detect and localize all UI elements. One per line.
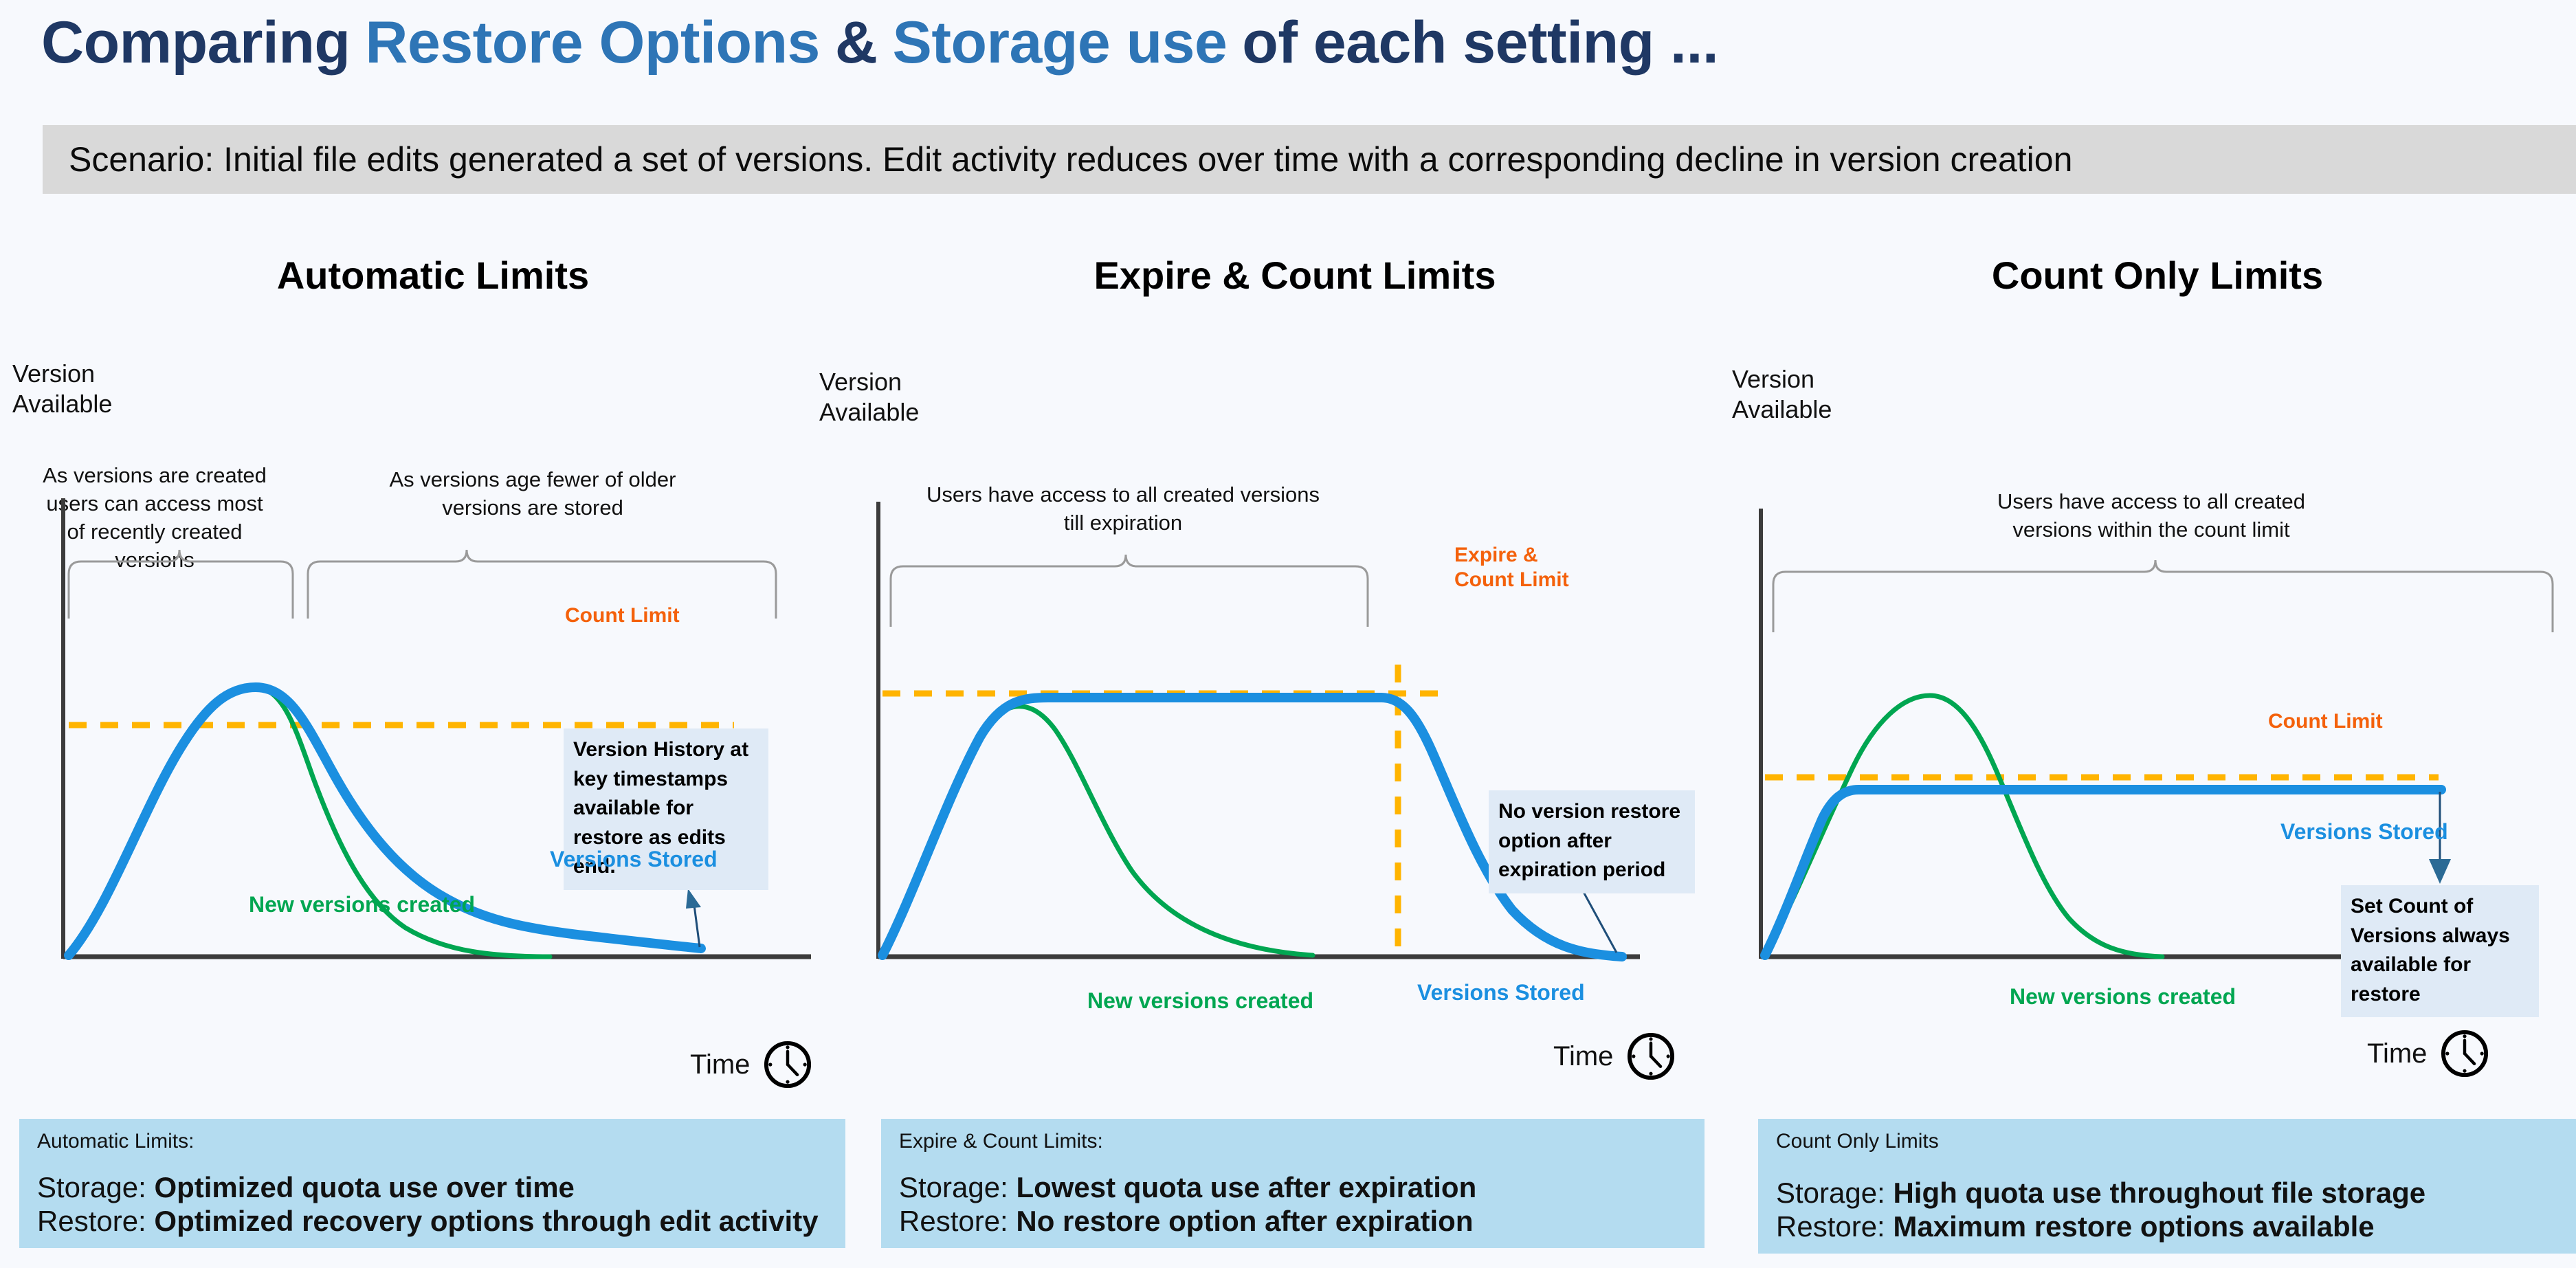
series-label-versions-stored-automatic: Versions Stored bbox=[550, 847, 718, 872]
panel-expire-count-limits: Expire & Count Limits Version Available … bbox=[859, 0, 1718, 1268]
panel-automatic-limits: Automatic Limits Version Available As ve… bbox=[0, 0, 859, 1268]
series-label-new-versions-automatic: New versions created bbox=[249, 892, 475, 917]
summary-heading-expire: Expire & Count Limits: bbox=[899, 1130, 1687, 1153]
x-axis-time-expire: Time bbox=[1553, 1031, 1676, 1082]
callout-count-only: Set Count of Versions always available f… bbox=[2341, 885, 2539, 1017]
summary-storage-count-only: Storage: High quota use throughout file … bbox=[1776, 1177, 2558, 1210]
summary-card-automatic: Automatic Limits: Storage: Optimized quo… bbox=[19, 1119, 845, 1248]
summary-card-count-only: Count Only Limits Storage: High quota us… bbox=[1758, 1119, 2576, 1254]
panel-title-expire: Expire & Count Limits bbox=[859, 253, 1718, 298]
series-label-versions-stored-expire: Versions Stored bbox=[1417, 980, 1585, 1005]
slide-canvas: ComparingRestore Options&Storage useof e… bbox=[0, 0, 2576, 1268]
series-label-new-versions-count-only: New versions created bbox=[2010, 984, 2236, 1010]
summary-card-expire: Expire & Count Limits: Storage: Lowest q… bbox=[881, 1119, 1705, 1248]
summary-heading-count-only: Count Only Limits bbox=[1776, 1130, 2558, 1153]
chart-automatic-limits bbox=[0, 385, 859, 1024]
summary-restore-count-only: Restore: Maximum restore options availab… bbox=[1776, 1210, 2558, 1244]
clock-icon bbox=[1625, 1031, 1676, 1082]
panel-count-only-limits: Count Only Limits Version Available User… bbox=[1718, 0, 2576, 1268]
x-axis-time-automatic: Time bbox=[690, 1039, 813, 1090]
expire-count-limit-label: Expire & Count Limit bbox=[1454, 543, 1569, 592]
summary-restore-automatic: Restore: Optimized recovery options thro… bbox=[37, 1205, 828, 1238]
series-label-versions-stored-count-only: Versions Stored bbox=[2280, 819, 2448, 845]
summary-storage-automatic: Storage: Optimized quota use over time bbox=[37, 1171, 828, 1205]
panel-title-count-only: Count Only Limits bbox=[1718, 253, 2576, 298]
summary-storage-expire: Storage: Lowest quota use after expirati… bbox=[899, 1171, 1687, 1205]
clock-icon bbox=[762, 1039, 813, 1090]
chart-expire-count-limits bbox=[859, 385, 1753, 1024]
series-label-new-versions-expire: New versions created bbox=[1087, 988, 1313, 1014]
summary-restore-expire: Restore: No restore option after expirat… bbox=[899, 1205, 1687, 1238]
panel-title-automatic: Automatic Limits bbox=[0, 253, 859, 298]
summary-heading-automatic: Automatic Limits: bbox=[37, 1130, 828, 1153]
clock-icon bbox=[2439, 1028, 2490, 1079]
x-axis-label-expire: Time bbox=[1553, 1041, 1613, 1072]
x-axis-label-count-only: Time bbox=[2367, 1038, 2427, 1069]
x-axis-label-automatic: Time bbox=[690, 1049, 750, 1080]
count-limit-label-count-only: Count Limit bbox=[2268, 709, 2383, 734]
callout-expire: No version restore option after expirati… bbox=[1489, 790, 1695, 893]
count-limit-label-automatic: Count Limit bbox=[565, 603, 680, 628]
x-axis-time-count-only: Time bbox=[2367, 1028, 2490, 1079]
